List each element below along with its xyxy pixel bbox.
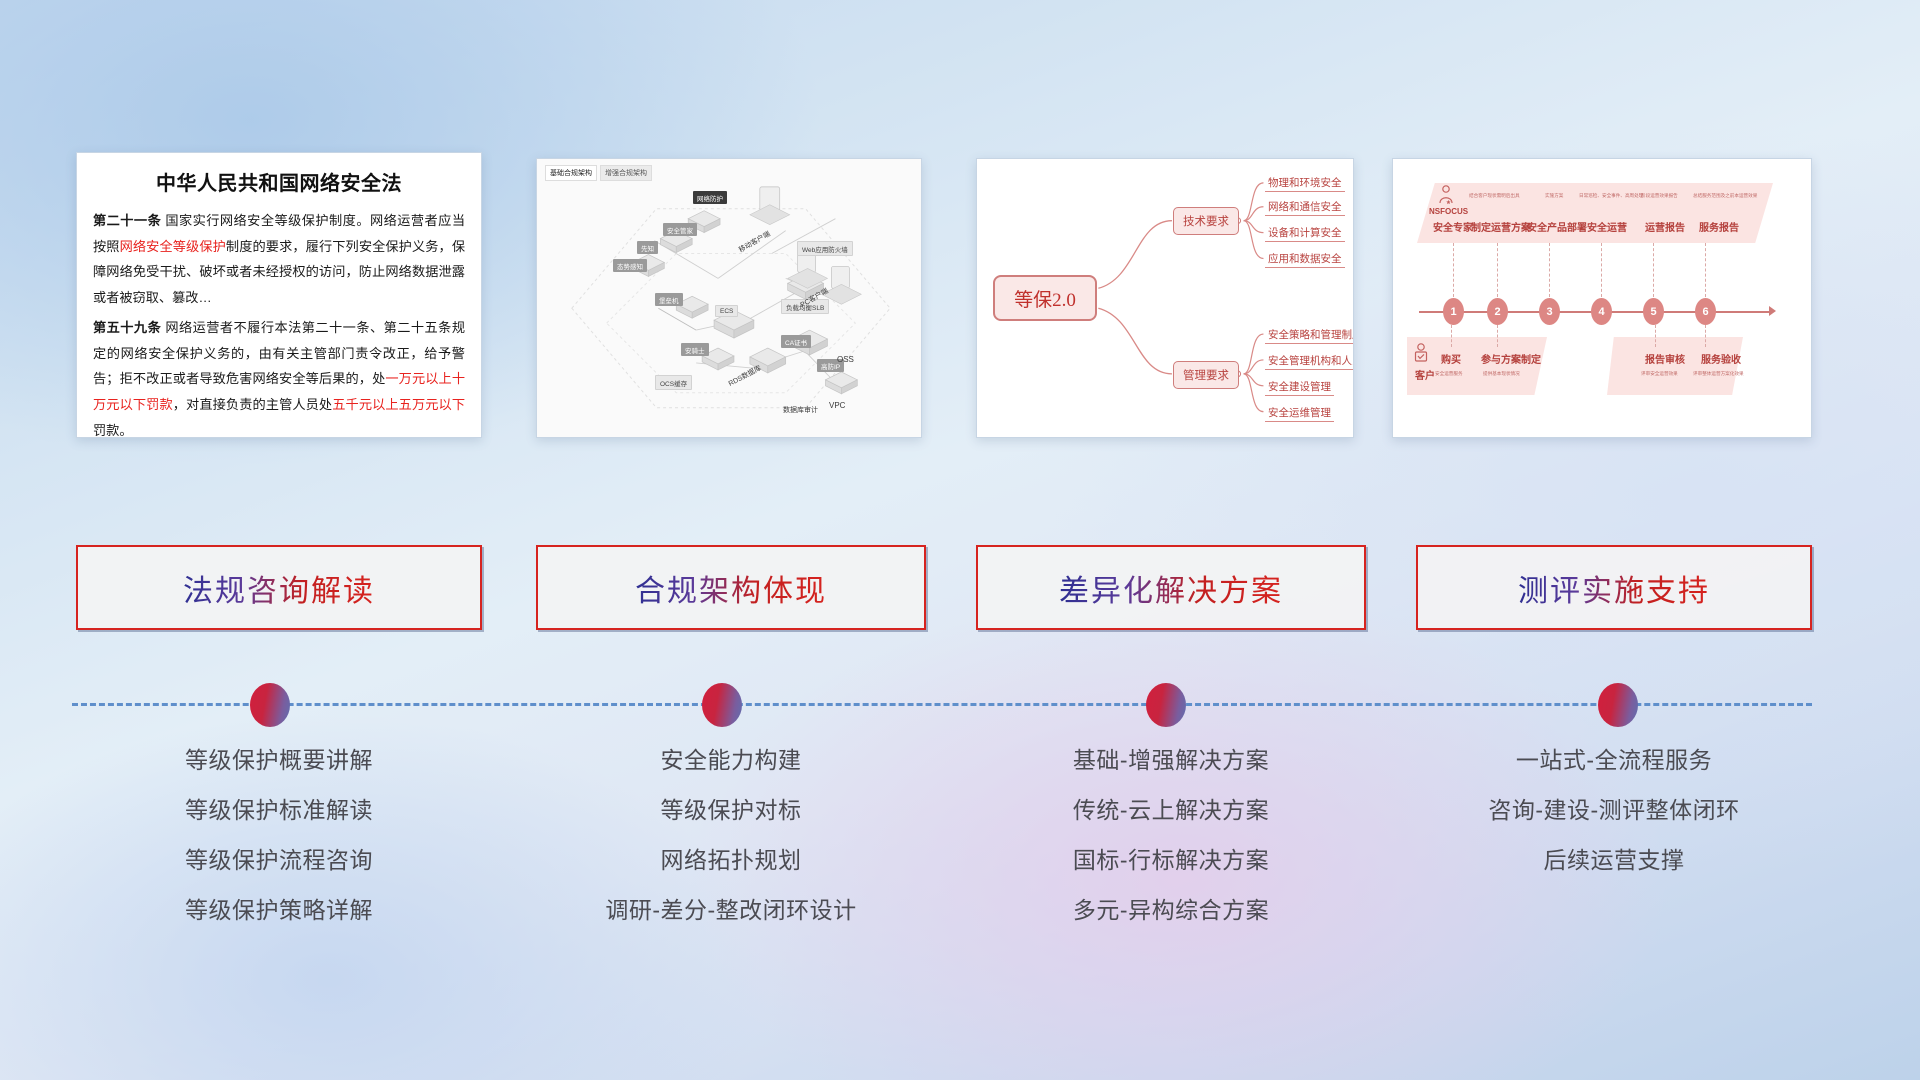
timeline-marker-2 [702, 683, 742, 727]
timeline-expert-role: 安全专家 [1433, 219, 1473, 234]
list-item: 调研-差分-整改闭环设计 [536, 885, 926, 935]
list-item: 等级保护策略详解 [76, 885, 482, 935]
timeline-node-3: 3 [1539, 298, 1560, 325]
timeline-leader-3 [1549, 243, 1550, 297]
timeline-top-sub-2: 实施方案 [1545, 193, 1563, 199]
arch-node-bastion-host: 堡垒机 [655, 293, 683, 306]
detail-column-1: 等级保护概要讲解 等级保护标准解读 等级保护流程咨询 等级保护策略详解 [76, 735, 482, 935]
list-item: 一站式-全流程服务 [1416, 735, 1812, 785]
arch-node-xianzhi: 先知 [637, 241, 658, 254]
mindmap-branch-technical: 技术要求 [1173, 207, 1239, 235]
headline-label-4: 测评实施支持 [1518, 566, 1710, 610]
list-item: 咨询-建设-测评整体闭环 [1416, 785, 1812, 835]
timeline-node-4: 4 [1591, 298, 1612, 325]
headline-box-1[interactable]: 法规咨询解读 [76, 545, 482, 630]
arch-node-ocs-cache: OCS缓存 [655, 375, 692, 390]
timeline-leader-b2 [1497, 325, 1498, 347]
law-p1-highlight: 网络安全等级保护 [120, 239, 226, 254]
customer-avatar-icon [1413, 343, 1429, 365]
architecture-diagram: 基础合规架构 增强合规架构 [537, 159, 921, 437]
timeline-leader-5 [1653, 243, 1654, 297]
timeline-top-sub-3: 日常巡检、安全事件、高周处理 [1579, 193, 1643, 199]
arch-node-oss: OSS [837, 355, 854, 364]
list-item: 等级保护流程咨询 [76, 835, 482, 885]
timeline-bottom-sub-4: 评审整体运营方案化效果 [1693, 371, 1744, 377]
arch-node-ecs: ECS [715, 305, 738, 317]
list-item: 等级保护对标 [536, 785, 926, 835]
law-paragraph-59: 第五十九条 网络运营者不履行本法第二十一条、第二十五条规定的网络安全保护义务的，… [93, 315, 465, 438]
timeline-marker-3 [1146, 683, 1186, 727]
law-p2-b: ，对直接负责的主管人员处 [173, 397, 332, 412]
timeline-leader-6 [1705, 243, 1706, 297]
thumbnail-card-timeline[interactable]: NSFOCUS 安全专家 客户 结合客户现状需明后出具 制定运营方案 实施方案 … [1392, 158, 1812, 438]
arch-node-ca-cert: CA证书 [781, 335, 811, 348]
list-item: 传统-云上解决方案 [976, 785, 1366, 835]
timeline-top-sub-5: 总结服务范围及之前本运营效果 [1693, 193, 1757, 199]
arch-node-db-audit: 数据库审计 [783, 405, 818, 415]
law-p2-c: 罚款。 [93, 423, 133, 438]
timeline-bottom-title-3: 报告审核 [1645, 351, 1685, 366]
timeline-bottom-sub-2: 提供基本现状情况 [1483, 371, 1520, 377]
detail-column-4: 一站式-全流程服务 咨询-建设-测评整体闭环 后续运营支撑 [1416, 735, 1812, 885]
list-item: 安全能力构建 [536, 735, 926, 785]
headline-box-2[interactable]: 合规架构体现 [536, 545, 926, 630]
headline-label-3: 差异化解决方案 [1059, 566, 1283, 610]
law-p2-highlight-2: 五千元以上五万元以下 [332, 397, 465, 412]
timeline-node-2: 2 [1487, 298, 1508, 325]
arch-node-situational-awareness: 态势感知 [613, 259, 647, 272]
timeline-bottom-band-right [1607, 337, 1743, 395]
timeline-bottom-title-1: 购买 [1441, 351, 1461, 366]
mindmap-branch-management: 管理要求 [1173, 361, 1239, 389]
timeline-leader-b1 [1451, 325, 1452, 347]
timeline-node-6: 6 [1695, 298, 1716, 325]
headline-label-2: 合规架构体现 [635, 566, 827, 610]
list-item: 国标-行标解决方案 [976, 835, 1366, 885]
timeline-node-1: 1 [1443, 298, 1464, 325]
timeline-top-title-2: 安全产品部署 [1527, 219, 1587, 234]
timeline-top-band [1417, 183, 1773, 243]
law-document: 中华人民共和国网络安全法 第二十一条 国家实行网络安全等级保护制度。网络运营者应… [77, 153, 481, 438]
timeline-dashed-line [72, 703, 1812, 706]
list-item: 基础-增强解决方案 [976, 735, 1366, 785]
mindmap-leaf-physical-env: 物理和环境安全 [1265, 175, 1345, 192]
mindmap-leaf-app-data: 应用和数据安全 [1265, 251, 1345, 268]
headline-box-4[interactable]: 测评实施支持 [1416, 545, 1812, 630]
timeline-arrow-icon [1769, 306, 1776, 316]
list-item: 等级保护标准解读 [76, 785, 482, 835]
timeline-node-5: 5 [1643, 298, 1664, 325]
mindmap-leaf-device-compute: 设备和计算安全 [1265, 225, 1345, 242]
detail-lists: 等级保护概要讲解 等级保护标准解读 等级保护流程咨询 等级保护策略详解 安全能力… [0, 735, 1920, 965]
headline-box-3[interactable]: 差异化解决方案 [976, 545, 1366, 630]
timeline-top-sub-4: 阶段运营效果报告 [1641, 193, 1678, 199]
timeline-marker-4 [1598, 683, 1638, 727]
timeline-top-title-3: 安全运营 [1587, 219, 1627, 234]
mindmap-leaf-ops-mgmt: 安全运维管理 [1265, 405, 1334, 422]
timeline-bottom-sub-1: 安全运营服务 [1435, 371, 1463, 377]
timeline-top-title-5: 服务报告 [1699, 219, 1739, 234]
thumbnail-card-architecture[interactable]: 基础合规架构 增强合规架构 [536, 158, 922, 438]
expert-avatar-icon [1437, 185, 1455, 205]
timeline-leader-4 [1601, 243, 1602, 297]
timeline-top-sub-1: 结合客户现状需明后出具 [1469, 193, 1520, 199]
arch-node-anqishi: 安骑士 [681, 343, 709, 356]
list-item: 等级保护概要讲解 [76, 735, 482, 785]
arch-node-vpc: VPC [829, 401, 845, 410]
timeline-bottom-title-2: 参与方案制定 [1481, 351, 1541, 366]
nsfocus-timeline: NSFOCUS 安全专家 客户 结合客户现状需明后出具 制定运营方案 实施方案 … [1393, 159, 1811, 437]
law-article-21-label: 第二十一条 [93, 213, 161, 228]
timeline-customer-role: 客户 [1415, 367, 1435, 382]
timeline-leader-2 [1497, 243, 1498, 297]
mindmap-root-node: 等保2.0 [993, 275, 1097, 321]
timeline-leader-b4 [1705, 325, 1706, 347]
timeline-bottom-sub-3: 评审安全运营效果 [1641, 371, 1678, 377]
list-item: 后续运营支撑 [1416, 835, 1812, 885]
timeline-expert-name: NSFOCUS [1429, 207, 1468, 216]
law-article-59-label: 第五十九条 [93, 320, 161, 335]
mindmap: 等保2.0 技术要求 物理和环境安全 网络和通信安全 设备和计算安全 应用和数据… [977, 159, 1353, 437]
detail-column-3: 基础-增强解决方案 传统-云上解决方案 国标-行标解决方案 多元-异构综合方案 [976, 735, 1366, 935]
mindmap-leaf-network-comm: 网络和通信安全 [1265, 199, 1345, 216]
mindmap-leaf-org-personnel: 安全管理机构和人员 [1265, 353, 1354, 370]
timeline-top-title-1: 制定运营方案 [1471, 219, 1531, 234]
headline-label-1: 法规咨询解读 [183, 566, 375, 610]
arch-node-waf: Web应用防火墙 [797, 241, 853, 256]
detail-column-2: 安全能力构建 等级保护对标 网络拓扑规划 调研-差分-整改闭环设计 [536, 735, 926, 935]
timeline-top-title-4: 运营报告 [1645, 219, 1685, 234]
law-title: 中华人民共和国网络安全法 [93, 167, 465, 196]
timeline-connector [0, 680, 1920, 730]
timeline-leader-b3 [1655, 325, 1656, 347]
thumbnail-card-law[interactable]: 中华人民共和国网络安全法 第二十一条 国家实行网络安全等级保护制度。网络运营者应… [76, 152, 482, 438]
arch-node-network-protection: 网络防护 [693, 191, 727, 204]
law-paragraph-21: 第二十一条 国家实行网络安全等级保护制度。网络运营者应当按照网络安全等级保护制度… [93, 208, 465, 311]
list-item: 网络拓扑规划 [536, 835, 926, 885]
thumbnail-card-mindmap[interactable]: 等保2.0 技术要求 物理和环境安全 网络和通信安全 设备和计算安全 应用和数据… [976, 158, 1354, 438]
thumbnail-row: 中华人民共和国网络安全法 第二十一条 国家实行网络安全等级保护制度。网络运营者应… [0, 150, 1920, 450]
timeline-bottom-title-4: 服务验收 [1701, 351, 1741, 366]
architecture-connectors [537, 159, 921, 438]
mindmap-leaf-construction-mgmt: 安全建设管理 [1265, 379, 1334, 396]
headline-row: 法规咨询解读 合规架构体现 差异化解决方案 测评实施支持 [0, 545, 1920, 640]
arch-node-security-butler: 安全管家 [663, 223, 697, 236]
mindmap-leaf-policy-system: 安全策略和管理制度 [1265, 327, 1354, 344]
timeline-marker-1 [250, 683, 290, 727]
list-item: 多元-异构综合方案 [976, 885, 1366, 935]
timeline-leader-1 [1453, 243, 1454, 297]
